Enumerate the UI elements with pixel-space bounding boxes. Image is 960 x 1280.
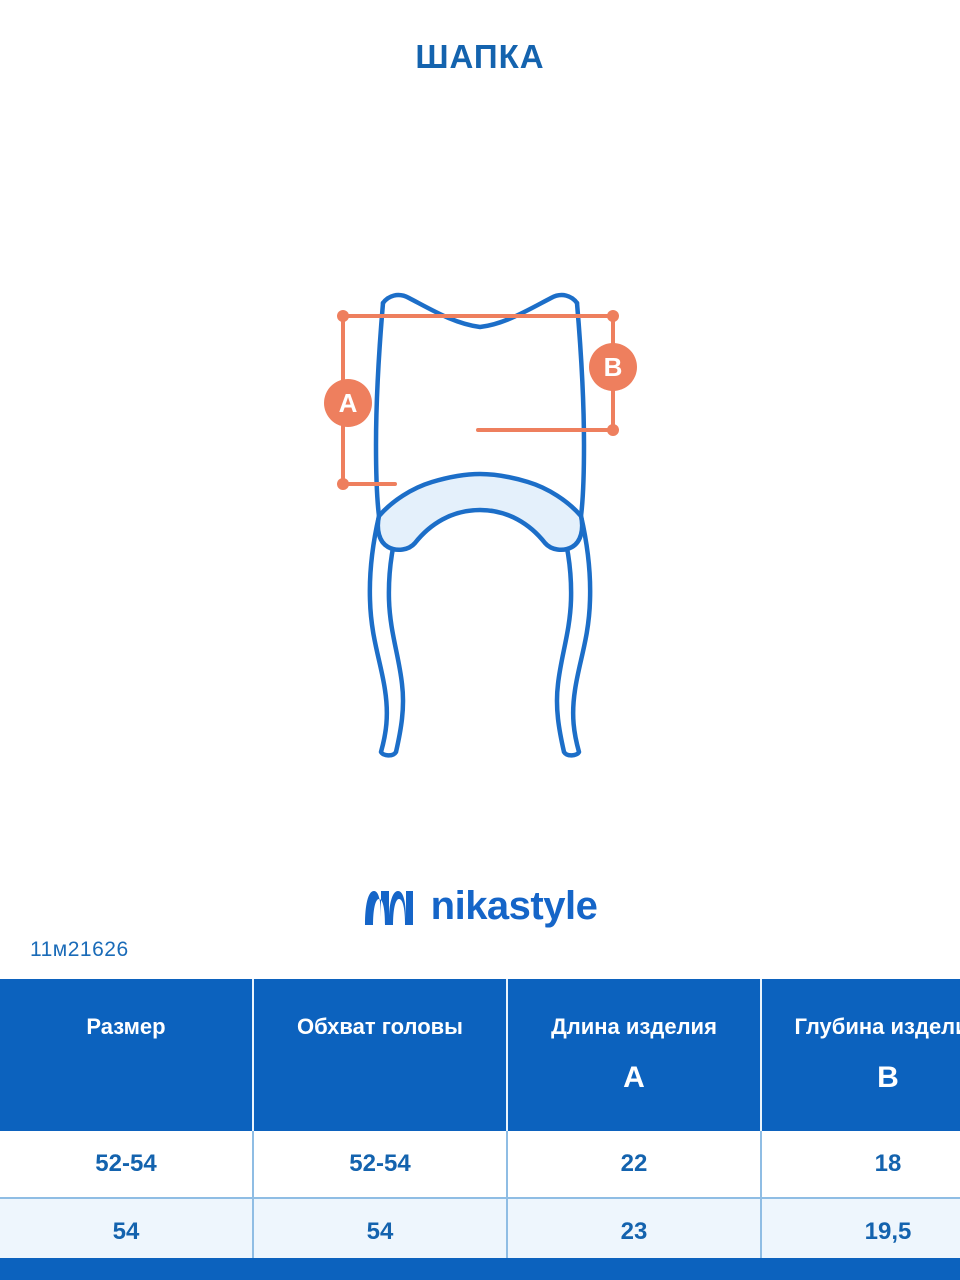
wave-logo-mark-icon [363,885,415,927]
table-cell-product-length: 23 [507,1198,761,1266]
footer-bar [0,1258,960,1280]
marker-badge-a: A [324,379,372,427]
table-cell-product-depth: 18 [761,1131,960,1198]
table-cell-size: 54 [0,1198,253,1266]
column-header-product-depth-label: Глубина изделия [768,1014,960,1039]
marker-badge-b: B [589,343,637,391]
hat-measurement-diagram: A B [0,260,960,800]
table-cell-product-depth: 19,5 [761,1198,960,1266]
brand-name: nikastyle [431,886,598,926]
size-table-head: Размер Обхват головы Длина изделия A Глу… [0,979,960,1131]
table-cell-size: 52-54 [0,1131,253,1198]
table-cell-head-circumference: 52-54 [253,1131,507,1198]
table-cell-head-circumference: 54 [253,1198,507,1266]
marker-label-b: B [604,352,623,382]
column-header-head-circumference-letter [260,1062,500,1096]
brand-logo: nikastyle [0,885,960,927]
measure-endpoint-b-bottom [607,424,619,436]
column-header-size: Размер [0,979,253,1131]
column-header-head-circumference-label: Обхват головы [260,1014,500,1039]
measure-endpoint-b-top [607,310,619,322]
column-header-product-length-letter: A [514,1061,754,1096]
hat-outline [370,295,590,755]
table-row: 54 54 23 19,5 [0,1198,960,1266]
measure-endpoint-a-bottom [337,478,349,490]
page-title: ШАПКА [0,38,960,76]
hat-diagram-svg: A B [0,260,960,800]
marker-label-a: A [339,388,358,418]
column-header-product-depth: Глубина изделия B [761,979,960,1131]
table-row: 52-54 52-54 22 18 [0,1131,960,1198]
size-table: Размер Обхват головы Длина изделия A Глу… [0,979,960,1267]
column-header-size-label: Размер [6,1014,246,1039]
column-header-size-letter [6,1062,246,1096]
size-table-body: 52-54 52-54 22 18 54 54 23 19,5 [0,1131,960,1266]
measure-endpoint-a-top [337,310,349,322]
column-header-product-depth-letter: B [768,1061,960,1096]
column-header-head-circumference: Обхват головы [253,979,507,1131]
size-table-header-row: Размер Обхват головы Длина изделия A Глу… [0,979,960,1131]
column-header-product-length: Длина изделия A [507,979,761,1131]
table-cell-product-length: 22 [507,1131,761,1198]
column-header-product-length-label: Длина изделия [514,1014,754,1039]
article-code: 11м21626 [30,938,129,962]
